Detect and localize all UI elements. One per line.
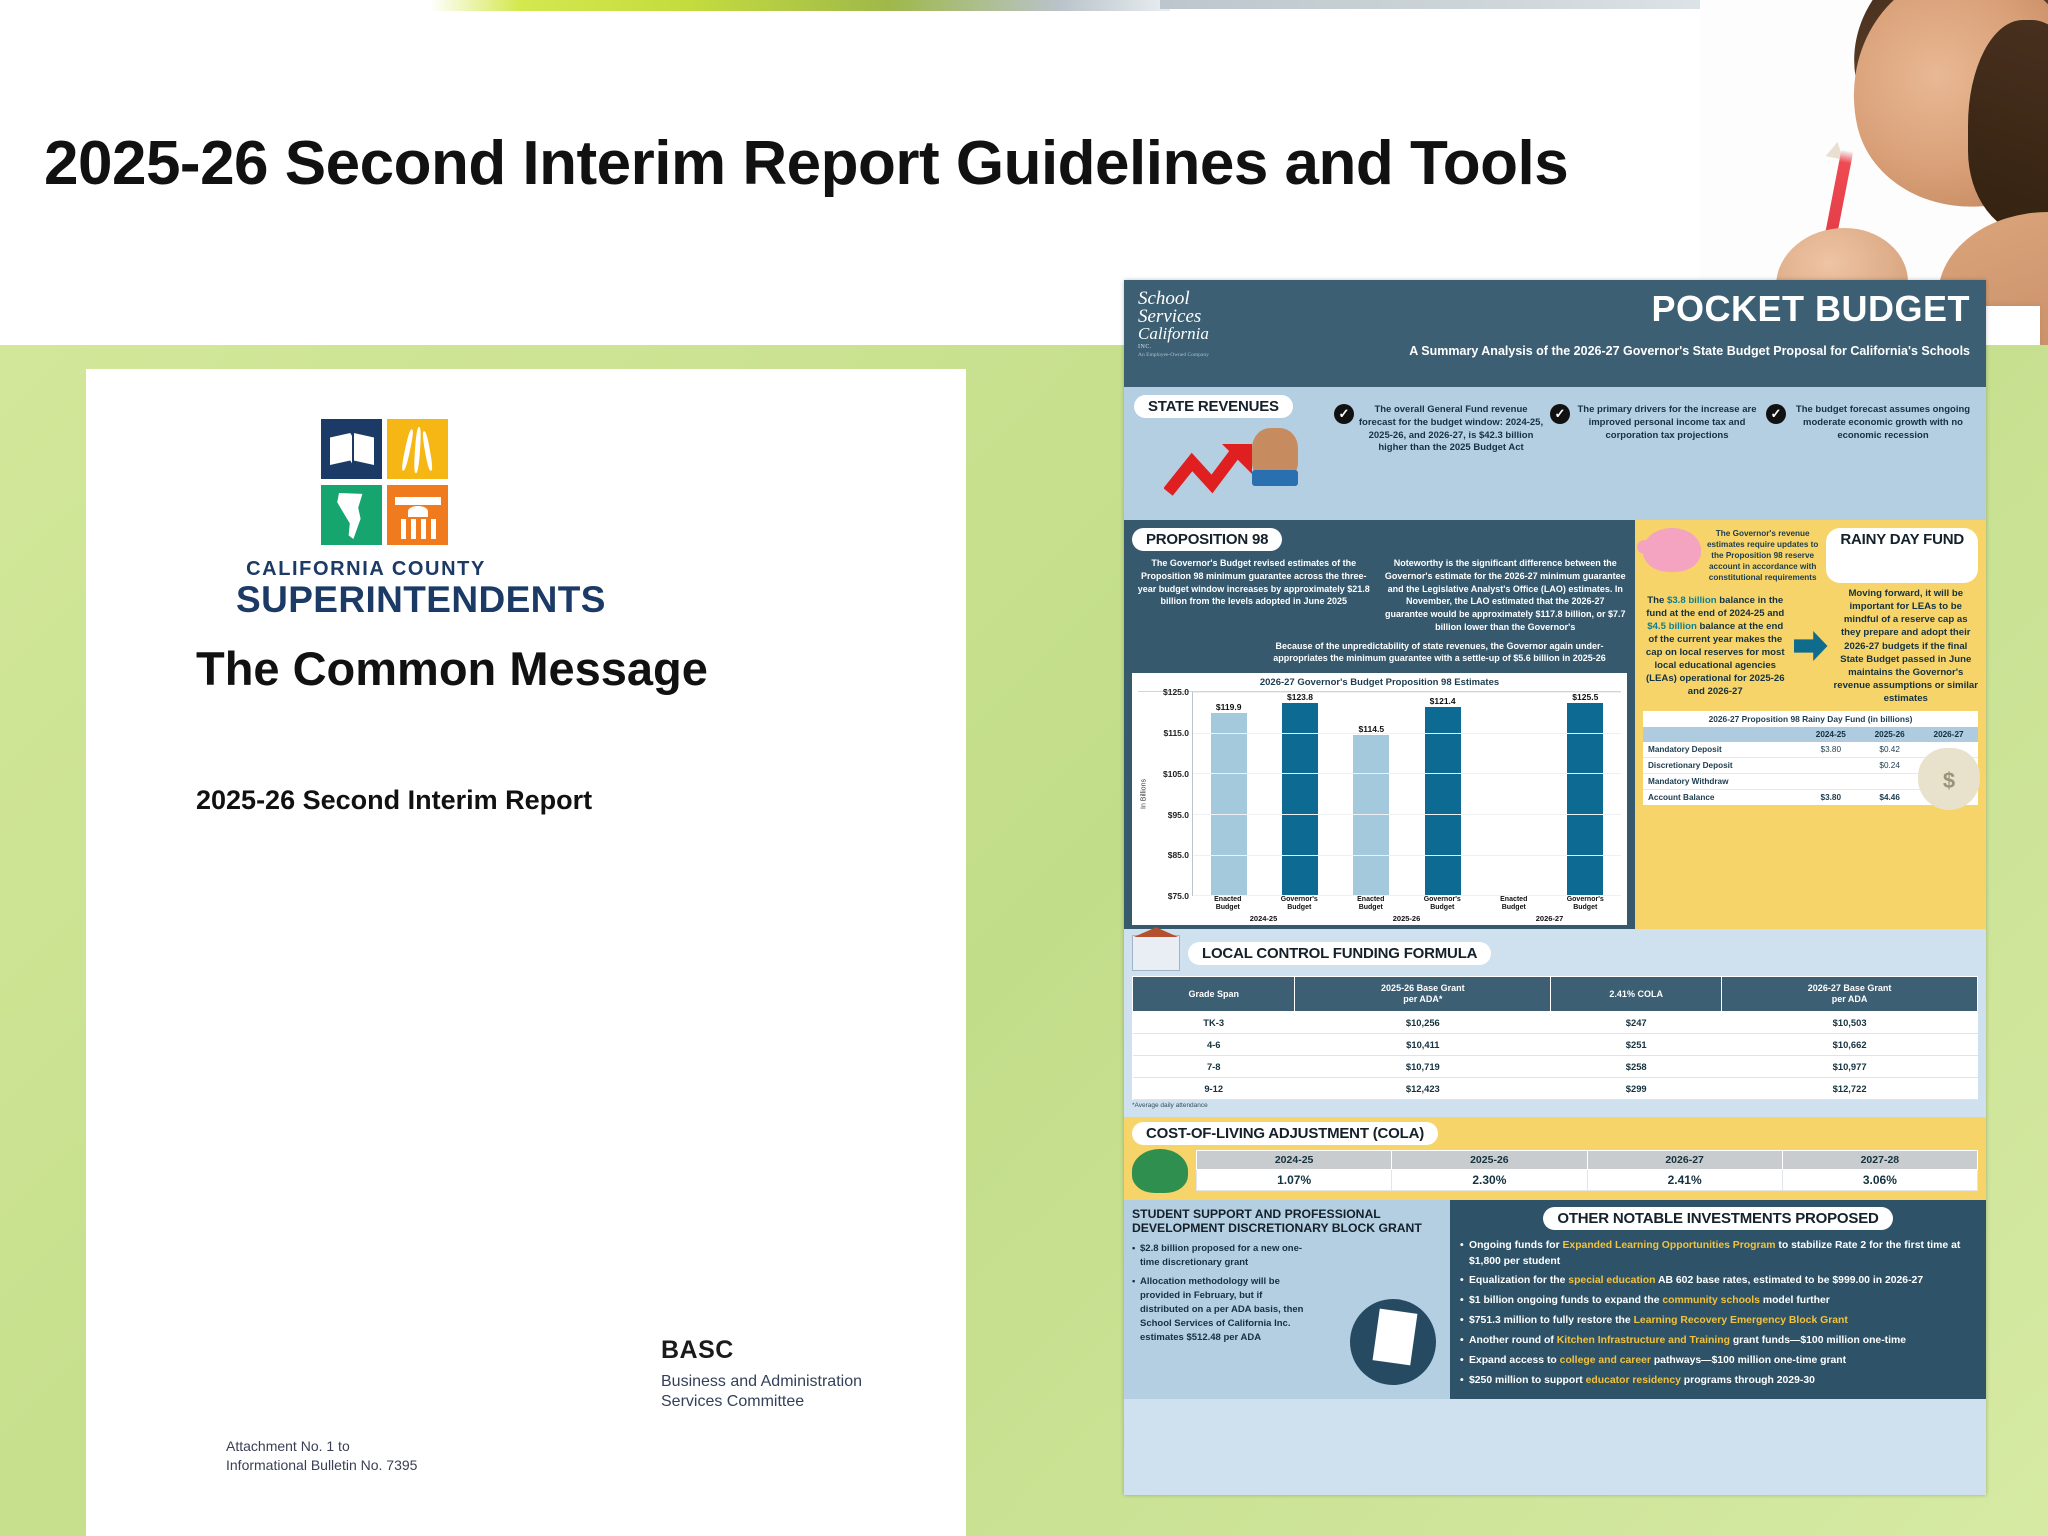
table-cell: 7-8 [1133, 1055, 1295, 1077]
chart-bar-value-label: $121.4 [1430, 696, 1456, 706]
revenue-arrow-illustration [1134, 398, 1334, 510]
chart-bar-slot [1478, 692, 1549, 895]
ssdg-heading: STUDENT SUPPORT AND PROFESSIONAL DEVELOP… [1132, 1207, 1442, 1236]
table-cell: $10,503 [1722, 1011, 1978, 1033]
table-cell: $299 [1551, 1077, 1722, 1099]
book-quadrant-icon [321, 419, 382, 479]
table-cell-label: Mandatory Deposit [1643, 742, 1801, 758]
basc-credit-block: BASC Business and Administration Service… [661, 1336, 862, 1413]
rainy-day-text-right: Moving forward, it will be important for… [1834, 587, 1979, 704]
table-column-header: Grade Span [1133, 977, 1295, 1012]
table-cell: 2.30% [1392, 1170, 1587, 1191]
table-column-header: 2027-28 [1782, 1151, 1977, 1170]
table-cell: $10,256 [1295, 1011, 1551, 1033]
bottom-row: STUDENT SUPPORT AND PROFESSIONAL DEVELOP… [1124, 1200, 1986, 1400]
prop98-text-col2: Noteworthy is the significant difference… [1384, 557, 1628, 634]
flame-quadrant-icon [387, 419, 448, 479]
other-investments-bullet-list: Ongoing funds for Expanded Learning Oppo… [1460, 1238, 1976, 1389]
table-row: 1.07%2.30%2.41%3.06% [1197, 1170, 1978, 1191]
chart-bar [1211, 713, 1247, 895]
lcff-heading: LOCAL CONTROL FUNDING FORMULA [1188, 942, 1491, 965]
chart-bar-slot: $121.4 [1407, 692, 1478, 895]
cola-heading: COST-OF-LIVING ADJUSTMENT (COLA) [1132, 1122, 1438, 1145]
chart-bar [1425, 707, 1461, 895]
list-item: $751.3 million to fully restore the Lear… [1460, 1313, 1976, 1329]
california-map-quadrant-icon [321, 485, 382, 545]
chart-x-tick: EnactedBudget [1192, 896, 1264, 912]
ssdg-bullet-list: $2.8 billion proposed for a new one-time… [1132, 1242, 1304, 1345]
table-column-header: 2025-26 [1860, 727, 1919, 742]
table-column-header: 2024-25 [1801, 727, 1860, 742]
rdf-left-hl1: $3.8 billion [1667, 595, 1717, 606]
logo-text-line1: CALIFORNIA COUNTY [236, 558, 496, 581]
school-services-california-logo: School Services California INC. An Emplo… [1138, 290, 1209, 358]
rainy-day-fund-section: The Governor's revenue estimates require… [1635, 520, 1986, 929]
chart-y-tick: $95.0 [1168, 810, 1189, 820]
table-cell: $4.46 [1860, 789, 1919, 805]
sleeve-icon [1252, 470, 1298, 486]
table-column-header: 2025-26 [1392, 1151, 1587, 1170]
table-cell: $12,722 [1722, 1077, 1978, 1099]
table-cell: 2.41% [1587, 1170, 1782, 1191]
chart-gridline [1193, 814, 1621, 815]
table-cell-label: Mandatory Withdraw [1643, 773, 1801, 789]
table-header-row: 2024-252025-262026-272027-28 [1197, 1151, 1978, 1170]
bullet-text-highlight: special education [1568, 1275, 1655, 1286]
student-support-block-grant-section: STUDENT SUPPORT AND PROFESSIONAL DEVELOP… [1124, 1200, 1450, 1400]
list-item: Another round of Kitchen Infrastructure … [1460, 1333, 1976, 1349]
list-item: Equalization for the special education A… [1460, 1273, 1976, 1289]
table-row: 7-8$10,719$258$10,977 [1133, 1055, 1978, 1077]
chart-gridline [1193, 692, 1621, 693]
basc-acronym: BASC [661, 1336, 862, 1365]
table-cell-label: Account Balance [1643, 789, 1801, 805]
table-cell [1860, 773, 1919, 789]
chart-y-tick: $125.0 [1163, 687, 1189, 697]
table-header-row: 2024-252025-262026-27 [1643, 727, 1978, 742]
bullet-text-highlight: community schools [1662, 1295, 1760, 1306]
bullet-text-pre: $751.3 million to fully restore the [1469, 1315, 1634, 1326]
table-column-header: 2026-27 [1587, 1151, 1782, 1170]
california-county-superintendents-logo: CALIFORNIA COUNTY SUPERINTENDENTS [236, 419, 496, 618]
table-row: TK-3$10,256$247$10,503 [1133, 1011, 1978, 1033]
bullet-text-post: model further [1760, 1295, 1830, 1306]
bullet-text-pre: Ongoing funds for [1469, 1240, 1563, 1251]
chart-x-tick: EnactedBudget [1335, 896, 1407, 912]
chart-bar-slot: $119.9 [1193, 692, 1264, 895]
table-cell: $10,411 [1295, 1033, 1551, 1055]
table-row: 9-12$12,423$299$12,722 [1133, 1077, 1978, 1099]
rdf-left-post: balance at the end of the current year m… [1646, 621, 1785, 697]
lcff-section: LOCAL CONTROL FUNDING FORMULA Grade Span… [1124, 929, 1986, 1117]
chart-bar-slot: $125.5 [1550, 692, 1621, 895]
page-title: 2025-26 Second Interim Report Guidelines… [44, 128, 1568, 199]
attachment-line1: Attachment No. 1 to [226, 1437, 417, 1456]
table-cell-label: Discretionary Deposit [1643, 757, 1801, 773]
basc-line2: Services Committee [661, 1392, 862, 1412]
checklist-text: The budget forecast assumes ongoing mode… [1790, 404, 1976, 455]
table-cell: 9-12 [1133, 1077, 1295, 1099]
chart-y-tick: $115.0 [1163, 728, 1189, 738]
checklist-item: ✓ The primary drivers for the increase a… [1550, 404, 1760, 455]
chart-bar [1353, 735, 1389, 895]
chart-y-axis-label: In Billions [1138, 692, 1150, 896]
common-message-cover-slide: CALIFORNIA COUNTY SUPERINTENDENTS The Co… [86, 369, 966, 1536]
table-column-header [1643, 727, 1801, 742]
chart-x-group-label: 2024-25 [1192, 914, 1335, 923]
table-cell: $10,662 [1722, 1033, 1978, 1055]
table-column-header: 2024-25 [1197, 1151, 1392, 1170]
chart-gridline [1193, 733, 1621, 734]
table-cell: $0.24 [1860, 757, 1919, 773]
piggy-bank-icon [1643, 528, 1701, 572]
slide-body: CALIFORNIA COUNTY SUPERINTENDENTS The Co… [0, 345, 2048, 1536]
bullet-text-highlight: Kitchen Infrastructure and Training [1557, 1335, 1730, 1346]
bullet-text-pre: $1 billion ongoing funds to expand the [1469, 1295, 1662, 1306]
rainy-day-text-left: The $3.8 billion balance in the fund at … [1643, 594, 1788, 698]
bullet-text-pre: Expand access to [1469, 1355, 1560, 1366]
table-header-row: Grade Span2025-26 Base Grant per ADA*2.4… [1133, 977, 1978, 1012]
chart-x-tick: Governor'sBudget [1550, 896, 1622, 912]
prop98-estimates-chart: 2026-27 Governor's Budget Proposition 98… [1132, 673, 1627, 925]
table-cell: $10,977 [1722, 1055, 1978, 1077]
basc-committee-name: Business and Administration Services Com… [661, 1372, 862, 1413]
table-cell [1801, 773, 1860, 789]
table-cell: $3.80 [1801, 789, 1860, 805]
rdf-left-hl2: $4.5 billion [1647, 621, 1697, 632]
logo-mark-icon [321, 419, 451, 545]
pocket-budget-header: School Services California INC. An Emplo… [1124, 280, 1986, 387]
proposition-98-section: PROPOSITION 98 The Governor's Budget rev… [1124, 520, 1635, 929]
money-plant-icon [1132, 1149, 1188, 1193]
table-cell: 4-6 [1133, 1033, 1295, 1055]
prop98-settle-up-note: Because of the unpredictability of state… [1132, 640, 1627, 666]
bullet-text-pre: $250 million to support [1469, 1375, 1586, 1386]
check-icon: ✓ [1766, 404, 1786, 424]
chart-plot-area: $119.9$123.8$114.5$121.4$125.5 [1192, 692, 1621, 896]
chart-y-tick: $75.0 [1168, 891, 1189, 901]
prop98-text-col1: The Governor's Budget revised estimates … [1132, 557, 1376, 634]
rainy-day-fund-heading: RAINY DAY FUND [1826, 528, 1978, 583]
table-cell: 3.06% [1782, 1170, 1977, 1191]
attachment-note: Attachment No. 1 to Informational Bullet… [226, 1437, 417, 1475]
chart-y-tick: $85.0 [1168, 850, 1189, 860]
list-item: $1 billion ongoing funds to expand the c… [1460, 1293, 1976, 1309]
table-row: 4-6$10,411$251$10,662 [1133, 1033, 1978, 1055]
check-icon: ✓ [1550, 404, 1570, 424]
slide-main-title: The Common Message [196, 641, 708, 696]
chart-bar-slot: $114.5 [1336, 692, 1407, 895]
bullet-text-highlight: Expanded Learning Opportunities Program [1563, 1240, 1776, 1251]
table-cell: TK-3 [1133, 1011, 1295, 1033]
prop98-rainyday-row: PROPOSITION 98 The Governor's Budget rev… [1124, 520, 1986, 929]
chart-bar-value-label: $125.5 [1572, 692, 1598, 702]
chart-gridline [1193, 895, 1621, 896]
chart-x-group-label: 2026-27 [1478, 914, 1621, 923]
list-item: $2.8 billion proposed for a new one-time… [1132, 1242, 1304, 1270]
money-bag-icon [1918, 748, 1980, 810]
chart-bar-slot: $123.8 [1264, 692, 1335, 895]
attachment-line2: Informational Bulletin No. 7395 [226, 1456, 417, 1475]
arrow-right-icon [1794, 631, 1828, 661]
chart-x-group-label: 2025-26 [1335, 914, 1478, 923]
list-item: Expand access to college and career path… [1460, 1353, 1976, 1369]
chart-gridline [1193, 773, 1621, 774]
chart-title: 2026-27 Governor's Budget Proposition 98… [1138, 677, 1621, 692]
lcff-footnote: *Average daily attendance [1132, 1102, 1978, 1109]
chart-x-tick: Governor'sBudget [1264, 896, 1336, 912]
checklist-item: ✓ The overall General Fund revenue forec… [1334, 404, 1544, 455]
pocket-budget-title: POCKET BUDGET [1651, 288, 1970, 330]
state-revenues-section: STATE REVENUES ✓ The overall General Fun… [1124, 387, 1986, 520]
table-cell: $12,423 [1295, 1077, 1551, 1099]
lcff-table: Grade Span2025-26 Base Grant per ADA*2.4… [1132, 976, 1978, 1100]
slide-subtitle: 2025-26 Second Interim Report [196, 785, 592, 816]
table-cell [1801, 757, 1860, 773]
table-cell: $258 [1551, 1055, 1722, 1077]
table-cell: $247 [1551, 1011, 1722, 1033]
bullet-text-highlight: Learning Recovery Emergency Block Grant [1634, 1315, 1848, 1326]
chart-gridline [1193, 855, 1621, 856]
checklist-text: The overall General Fund revenue forecas… [1358, 404, 1544, 455]
table-cell: $3.80 [1801, 742, 1860, 758]
chart-y-axis: $125.0$115.0$105.0$95.0$85.0$75.0 [1150, 692, 1192, 896]
rdf-table-caption: 2026-27 Proposition 98 Rainy Day Fund (i… [1643, 711, 1978, 727]
chart-x-tick: Governor'sBudget [1407, 896, 1479, 912]
bullet-text-post: programs through 2029-30 [1681, 1375, 1815, 1386]
table-column-header: 2026-27 [1919, 727, 1978, 742]
pocket-budget-infographic: School Services California INC. An Emplo… [1124, 280, 1986, 1495]
ssc-tagline: An Employee-Owned Company [1138, 353, 1209, 358]
ssc-line3: California [1138, 326, 1209, 342]
rdf-left-pre: The [1647, 595, 1667, 606]
list-item: $250 million to support educator residen… [1460, 1373, 1976, 1389]
other-investments-section: OTHER NOTABLE INVESTMENTS PROPOSED Ongoi… [1450, 1200, 1986, 1400]
chart-y-tick: $105.0 [1163, 769, 1189, 779]
basc-line1: Business and Administration [661, 1372, 862, 1392]
chart-x-tick: EnactedBudget [1478, 896, 1550, 912]
ssc-inc: INC. [1138, 345, 1209, 351]
table-cell: $251 [1551, 1033, 1722, 1055]
cola-table: 2024-252025-262026-272027-28 1.07%2.30%2… [1196, 1150, 1978, 1191]
chart-x-axis-groups: 2024-252025-262026-27 [1138, 914, 1621, 923]
capitol-quadrant-icon [387, 485, 448, 545]
accent-strip-green [430, 0, 1170, 11]
table-column-header: 2026-27 Base Grant per ADA [1722, 977, 1978, 1012]
pocket-budget-subtitle: A Summary Analysis of the 2026-27 Govern… [1409, 344, 1970, 358]
state-revenues-checklist: ✓ The overall General Fund revenue forec… [1334, 398, 1976, 455]
chart-bar-value-label: $119.9 [1216, 702, 1242, 712]
checklist-text: The primary drivers for the increase are… [1574, 404, 1760, 455]
other-investments-heading: OTHER NOTABLE INVESTMENTS PROPOSED [1543, 1207, 1892, 1230]
proposition-98-heading: PROPOSITION 98 [1132, 528, 1282, 551]
table-cell: $0.42 [1860, 742, 1919, 758]
document-hand-icon [1350, 1299, 1436, 1385]
checklist-item: ✓ The budget forecast assumes ongoing mo… [1766, 404, 1976, 455]
bullet-text-post: AB 602 base rates, estimated to be $999.… [1656, 1275, 1924, 1286]
bullet-text-post: grant funds—$100 million one-time [1730, 1335, 1906, 1346]
chart-bar-value-label: $123.8 [1287, 692, 1313, 702]
table-column-header: 2.41% COLA [1551, 977, 1722, 1012]
bullet-text-highlight: educator residency [1586, 1375, 1681, 1386]
bullet-text-post: pathways—$100 million one-time grant [1651, 1355, 1846, 1366]
logo-text-line2: SUPERINTENDENTS [236, 581, 496, 618]
table-column-header: 2025-26 Base Grant per ADA* [1295, 977, 1551, 1012]
bullet-text-pre: Equalization for the [1469, 1275, 1568, 1286]
cola-section: COST-OF-LIVING ADJUSTMENT (COLA) 2024-25… [1124, 1117, 1986, 1200]
check-icon: ✓ [1334, 404, 1354, 424]
chart-x-axis-labels: EnactedBudgetGovernor'sBudgetEnactedBudg… [1138, 896, 1621, 912]
bullet-text-pre: Another round of [1469, 1335, 1557, 1346]
list-item: Ongoing funds for Expanded Learning Oppo… [1460, 1238, 1976, 1270]
table-cell: $10,719 [1295, 1055, 1551, 1077]
school-building-icon [1132, 935, 1180, 971]
bullet-text-highlight: college and career [1560, 1355, 1651, 1366]
list-item: Allocation methodology will be provided … [1132, 1275, 1304, 1345]
table-cell: 1.07% [1197, 1170, 1392, 1191]
